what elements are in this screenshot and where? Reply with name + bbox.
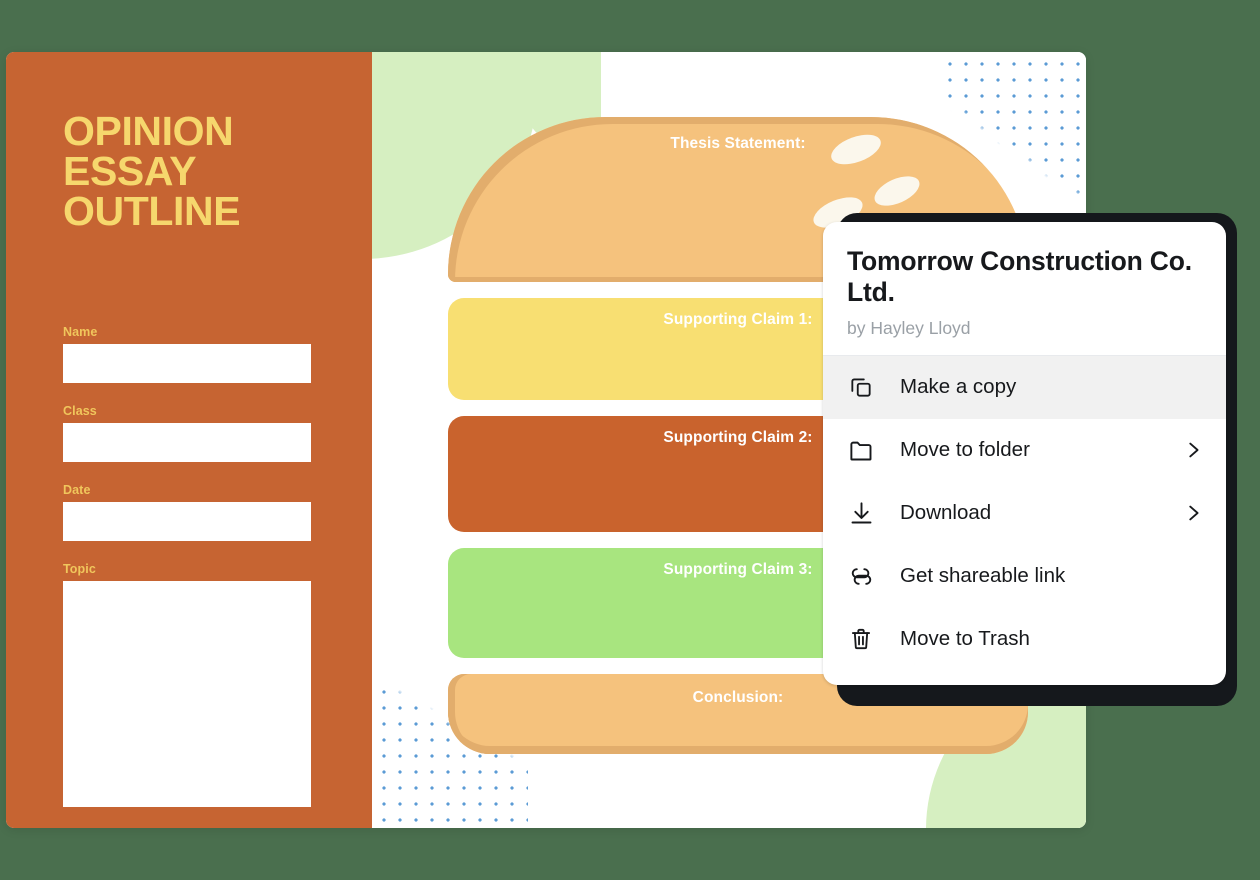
trash-icon (846, 624, 876, 654)
diagram-layer-label: Conclusion: (693, 689, 784, 707)
page-title: OPINION ESSAY OUTLINE (63, 112, 353, 231)
field-label-topic: Topic (63, 562, 311, 576)
diagram-layer-label: Supporting Claim 3: (663, 561, 812, 579)
context-menu-title: Tomorrow Construction Co. Ltd. (847, 246, 1202, 309)
field-group-name: Name (63, 325, 311, 383)
context-menu[interactable]: Tomorrow Construction Co. Ltd. by Hayley… (823, 222, 1226, 685)
chevron-right-icon (1182, 502, 1204, 524)
context-menu-list: Make a copy Move to folder (823, 356, 1226, 685)
context-menu-byline: by Hayley Lloyd (847, 318, 1202, 339)
class-input[interactable] (63, 423, 311, 462)
link-icon (846, 561, 876, 591)
menu-item-label: Make a copy (900, 375, 1182, 399)
field-label-name: Name (63, 325, 311, 339)
menu-item-label: Get shareable link (900, 564, 1182, 588)
menu-item-make-a-copy[interactable]: Make a copy (823, 356, 1226, 419)
diagram-layer-label: Thesis Statement: (670, 135, 805, 153)
diagram-layer-label: Supporting Claim 1: (663, 311, 812, 329)
screen: Thesis Statement: Supporting Claim 1: Su… (0, 0, 1260, 880)
sesame-seed-icon (827, 129, 884, 170)
field-group-date: Date (63, 483, 311, 541)
menu-item-download[interactable]: Download (823, 482, 1226, 545)
topic-textarea[interactable] (63, 581, 311, 807)
download-icon (846, 498, 876, 528)
field-group-class: Class (63, 404, 311, 462)
worksheet-sidebar: OPINION ESSAY OUTLINE Name Class Date To… (6, 52, 372, 828)
sesame-seed-icon (870, 170, 924, 211)
folder-icon (846, 435, 876, 465)
menu-item-move-to-trash[interactable]: Move to Trash (823, 608, 1226, 671)
field-label-class: Class (63, 404, 311, 418)
menu-item-label: Move to folder (900, 438, 1182, 462)
diagram-layer-label: Supporting Claim 2: (663, 429, 812, 447)
menu-item-label: Move to Trash (900, 627, 1182, 651)
field-label-date: Date (63, 483, 311, 497)
menu-item-label: Download (900, 501, 1182, 525)
context-menu-header: Tomorrow Construction Co. Ltd. by Hayley… (823, 222, 1226, 355)
menu-item-get-shareable-link[interactable]: Get shareable link (823, 545, 1226, 608)
copy-icon (846, 372, 876, 402)
menu-item-move-to-folder[interactable]: Move to folder (823, 419, 1226, 482)
field-group-topic: Topic (63, 562, 311, 807)
date-input[interactable] (63, 502, 311, 541)
chevron-right-icon (1182, 439, 1204, 461)
name-input[interactable] (63, 344, 311, 383)
